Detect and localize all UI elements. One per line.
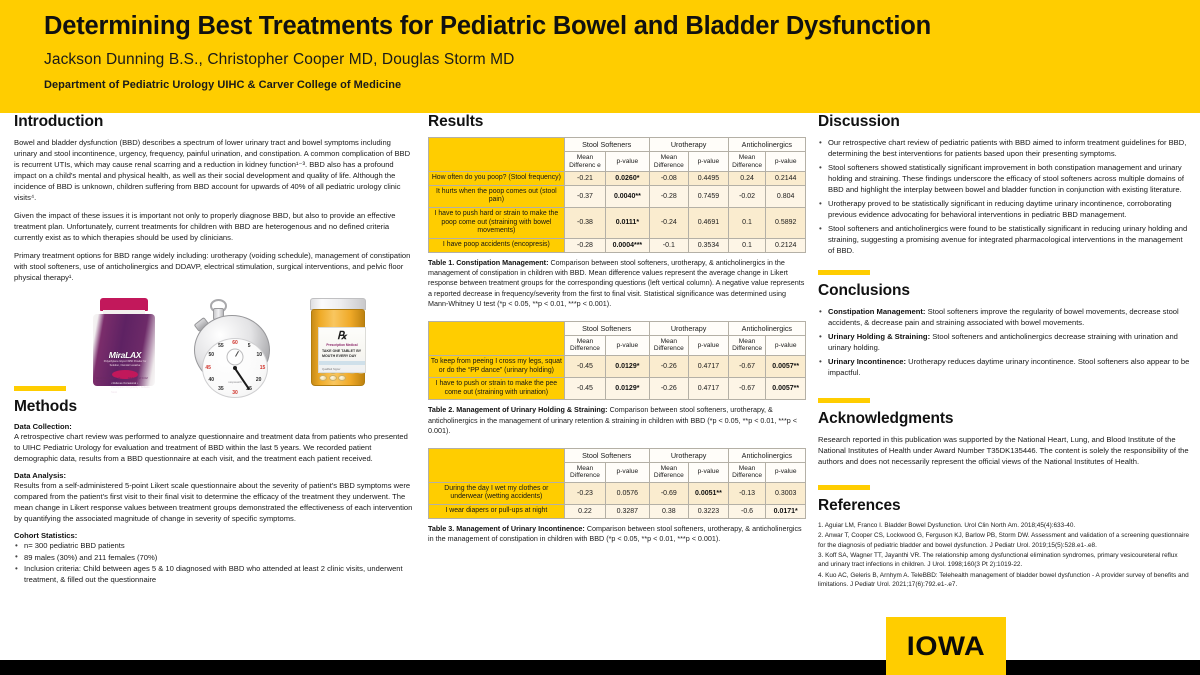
table-group-header: Anticholinergics xyxy=(728,321,805,335)
stopwatch-face: 60 5 10 15 20 25 30 35 40 45 50 55 xyxy=(202,338,268,398)
table-sub-header: p-value xyxy=(606,152,649,172)
stopwatch-tick-50: 50 xyxy=(209,352,215,358)
accent-bar-methods xyxy=(14,386,66,391)
heading-introduction: Introduction xyxy=(14,113,414,131)
table-value-cell: 0.0057** xyxy=(766,355,806,377)
results-tables-host: Stool SoftenersUrotherapyAnticholinergic… xyxy=(428,137,806,545)
table-value-cell: 0.2144 xyxy=(766,172,806,186)
table-value-cell: -0.37 xyxy=(564,185,605,207)
table-row: During the day I wet my clothes or under… xyxy=(429,482,806,504)
stopwatch-tick-5: 5 xyxy=(248,343,251,349)
references-list: 1. Aguiar LM, Franco I. Bladder Bowel Dy… xyxy=(818,521,1190,590)
prescription-signature: Qualified Signer xyxy=(322,368,340,371)
table-value-cell: -0.67 xyxy=(728,355,766,377)
table-caption: Table 2. Management of Urinary Holding &… xyxy=(428,405,806,436)
accent-bar-conclusions xyxy=(818,270,870,275)
table-value-cell: -0.26 xyxy=(649,378,689,400)
table-sub-header: Mean Difference xyxy=(728,462,766,482)
table-sub-header: p-value xyxy=(766,335,806,355)
table-group-header: Stool Softeners xyxy=(564,321,649,335)
accent-bar-acknowledgments xyxy=(818,398,870,403)
list-item: Stool softeners showed statistically sig… xyxy=(818,162,1190,195)
table-value-cell: -0.21 xyxy=(564,172,605,186)
list-item: Our retrospective chart review of pediat… xyxy=(818,137,1190,159)
table-value-cell: 0.38 xyxy=(649,505,689,519)
table-caption: Table 1. Constipation Management: Compar… xyxy=(428,258,806,310)
miralax-bottle-image: MiraLAX Polyethylene Glycol 3350 Powder … xyxy=(92,298,156,386)
table-value-cell: -0.23 xyxy=(564,482,605,504)
table-value-cell: 0.4717 xyxy=(689,355,729,377)
table-value-cell: -0.08 xyxy=(649,172,689,186)
label-data-analysis: Data Analysis: xyxy=(14,471,414,480)
table-row: To keep from peeing I cross my legs, squ… xyxy=(429,355,806,377)
table-row: I have to push or strain to make the pee… xyxy=(429,378,806,400)
heading-conclusions: Conclusions xyxy=(818,282,1190,300)
stopwatch-tick-10: 10 xyxy=(257,352,263,358)
stopwatch-case: 60 5 10 15 20 25 30 35 40 45 50 55 xyxy=(194,315,270,385)
table-group-header: Stool Softeners xyxy=(564,448,649,462)
heading-references: References xyxy=(818,497,1190,515)
table-value-cell: -0.28 xyxy=(564,238,605,252)
table-sub-header: Mean Differenc e xyxy=(564,152,605,172)
table-row: How often do you poop? (Stool frequency)… xyxy=(429,172,806,186)
table-value-cell: -0.67 xyxy=(728,378,766,400)
table-value-cell: 0.0171* xyxy=(766,505,806,519)
intro-paragraph-2: Given the impact of these issues it is i… xyxy=(14,210,414,243)
table-question-cell: I wear diapers or pull-ups at night xyxy=(429,505,565,519)
reference-item: 3. Koff SA, Wagner TT, Jayanthi VR. The … xyxy=(818,551,1190,570)
stopwatch-tick-45: 45 xyxy=(205,365,211,371)
pill-bottle-image: ℞ Prescription Medical TAKE ONE TABLET B… xyxy=(308,298,368,386)
conclusion-lead: Urinary Holding & Straining: xyxy=(828,332,930,341)
table-row: It hurts when the poop comes out (stool … xyxy=(429,185,806,207)
table-value-cell: 0.3223 xyxy=(689,505,729,519)
table-sub-header: Mean Difference xyxy=(564,462,605,482)
stopwatch-tick-15: 15 xyxy=(260,365,266,371)
discussion-list: Our retrospective chart review of pediat… xyxy=(818,137,1190,256)
list-item: Urinary Incontinence: Urotherapy reduces… xyxy=(818,356,1190,378)
table-question-cell: I have to push or strain to make the pee… xyxy=(429,378,565,400)
table-caption: Table 3. Management of Urinary Incontine… xyxy=(428,524,806,545)
heading-results: Results xyxy=(428,113,806,131)
table-question-cell: I have poop accidents (encopresis) xyxy=(429,238,565,252)
column-results: Results Stool SoftenersUrotherapyAnticho… xyxy=(428,113,806,556)
stopwatch-hand xyxy=(234,368,250,390)
table-value-cell: -0.45 xyxy=(564,355,605,377)
reference-item: 4. Kuo AC, Geleris B, Arnhym A. TeleBBD:… xyxy=(818,571,1190,590)
table-sub-header: p-value xyxy=(689,462,729,482)
conclusion-lead: Constipation Management: xyxy=(828,307,925,316)
column-left: Introduction Bowel and bladder dysfuncti… xyxy=(14,113,414,591)
list-item: n= 300 pediatric BBD patients xyxy=(14,540,414,551)
poster-header: Determining Best Treatments for Pediatri… xyxy=(0,0,1200,113)
pill-bottle-body: ℞ Prescription Medical TAKE ONE TABLET B… xyxy=(311,309,365,386)
poster-body: Introduction Bowel and bladder dysfuncti… xyxy=(0,113,1200,660)
miralax-brand-label: MiraLAX xyxy=(100,350,150,360)
stopwatch-tick-55: 55 xyxy=(218,343,224,349)
table-caption-lead: Table 2. Management of Urinary Holding &… xyxy=(428,405,608,414)
table-value-cell: 0.0129* xyxy=(606,355,649,377)
table-value-cell: -0.13 xyxy=(728,482,766,504)
intro-paragraph-3: Primary treatment options for BBD range … xyxy=(14,250,414,283)
pill xyxy=(319,375,327,381)
table-question-cell: During the day I wet my clothes or under… xyxy=(429,482,565,504)
poster-canvas: Determining Best Treatments for Pediatri… xyxy=(0,0,1200,675)
department-line: Department of Pediatric Urology UIHC & C… xyxy=(44,79,1200,91)
prescription-label: ℞ Prescription Medical TAKE ONE TABLET B… xyxy=(318,327,366,373)
label-cohort-statistics: Cohort Statistics: xyxy=(14,531,414,540)
heading-acknowledgments: Acknowledgments xyxy=(818,410,1190,428)
table-sub-header: p-value xyxy=(606,462,649,482)
pill xyxy=(329,375,337,381)
list-item: Inclusion criteria: Child between ages 5… xyxy=(14,563,414,585)
table-value-cell: 0.4495 xyxy=(689,172,729,186)
stopwatch-brand-text: stopwatch xyxy=(203,380,267,384)
bottle-body: MiraLAX Polyethylene Glycol 3350 Powder … xyxy=(93,314,155,386)
table-value-cell: 0.0004*** xyxy=(606,238,649,252)
author-list: Jackson Dunning B.S., Christopher Cooper… xyxy=(44,51,1200,69)
text-data-collection: A retrospective chart review was perform… xyxy=(14,431,414,464)
table-value-cell: 0.0576 xyxy=(606,482,649,504)
table-value-cell: 0.4717 xyxy=(689,378,729,400)
table-value-cell: 0.4691 xyxy=(689,208,729,239)
table-corner-cell xyxy=(429,138,565,172)
table-sub-header: Mean Difference xyxy=(564,335,605,355)
list-item: Urinary Holding & Straining: Stool softe… xyxy=(818,331,1190,353)
stopwatch-tick-60: 60 xyxy=(232,340,238,346)
table-value-cell: 0.3534 xyxy=(689,238,729,252)
table-sub-header: p-value xyxy=(689,152,729,172)
table-value-cell: 0.3003 xyxy=(766,482,806,504)
table-corner-cell xyxy=(429,321,565,355)
table-value-cell: -0.28 xyxy=(649,185,689,207)
label-data-collection: Data Collection: xyxy=(14,422,414,431)
rx-icon: ℞ xyxy=(319,329,365,342)
table-group-header: Urotherapy xyxy=(649,138,728,152)
table-sub-header: p-value xyxy=(606,335,649,355)
table-sub-header: p-value xyxy=(766,152,806,172)
table-value-cell: 0.5892 xyxy=(766,208,806,239)
table-value-cell: 0.3287 xyxy=(606,505,649,519)
table-group-header: Urotherapy xyxy=(649,321,728,335)
miralax-weight-text: NET WT 17.9 OZ (510g) xyxy=(128,377,154,383)
table-group-header: Stool Softeners xyxy=(564,138,649,152)
heading-discussion: Discussion xyxy=(818,113,1190,131)
footer-bar xyxy=(0,660,1200,675)
table-caption-lead: Table 3. Management of Urinary Incontine… xyxy=(428,524,585,533)
miralax-subtext: Polyethylene Glycol 3350 Powder for Solu… xyxy=(99,360,151,368)
conclusions-list: Constipation Management: Stool softeners… xyxy=(818,306,1190,378)
treatment-images: MiraLAX Polyethylene Glycol 3350 Powder … xyxy=(14,290,414,386)
miralax-dose-text: 30 DOSES DAILY 17 GRAMS xyxy=(96,377,128,383)
list-item: Urotherapy proved to be statistically si… xyxy=(818,198,1190,220)
table-value-cell: -0.45 xyxy=(564,378,605,400)
table-caption-lead: Table 1. Constipation Management: xyxy=(428,258,548,267)
table-group-header: Anticholinergics xyxy=(728,448,805,462)
table-sub-header: Mean Difference xyxy=(649,335,689,355)
table-value-cell: 0.0129* xyxy=(606,378,649,400)
stopwatch-image: 60 5 10 15 20 25 30 35 40 45 50 55 xyxy=(192,298,272,386)
table-value-cell: -0.26 xyxy=(649,355,689,377)
table-value-cell: 0.0111* xyxy=(606,208,649,239)
results-table: Stool SoftenersUrotherapyAnticholinergic… xyxy=(428,137,806,253)
column-right: Discussion Our retrospective chart revie… xyxy=(818,113,1190,590)
label-stripe xyxy=(319,361,365,365)
reference-item: 2. Anwar T, Cooper CS, Lockwood G, Fergu… xyxy=(818,531,1190,550)
miralax-claims: • Relieves Occasional • Constipation Irr… xyxy=(111,382,151,395)
table-value-cell: -0.6 xyxy=(728,505,766,519)
table-corner-cell xyxy=(429,448,565,482)
cohort-statistics-list: n= 300 pediatric BBD patients 89 males (… xyxy=(14,540,414,585)
list-item: Stool softeners and anticholinergics wer… xyxy=(818,223,1190,256)
table-question-cell: To keep from peeing I cross my legs, squ… xyxy=(429,355,565,377)
stopwatch-subdial xyxy=(227,348,244,365)
table-value-cell: -0.1 xyxy=(649,238,689,252)
table-group-header: Anticholinergics xyxy=(728,138,805,152)
iowa-logo-text: IOWA xyxy=(907,631,985,662)
table-value-cell: -0.24 xyxy=(649,208,689,239)
table-group-header: Urotherapy xyxy=(649,448,728,462)
table-value-cell: 0.804 xyxy=(766,185,806,207)
table-value-cell: 0.1 xyxy=(728,238,766,252)
conclusion-lead: Urinary Incontinence: xyxy=(828,357,906,366)
table-value-cell: 0.0260* xyxy=(606,172,649,186)
prescription-header-text: Prescription Medical xyxy=(319,343,365,347)
table-sub-header: Mean Difference xyxy=(728,335,766,355)
table-value-cell: -0.02 xyxy=(728,185,766,207)
stopwatch-tick-30: 30 xyxy=(232,390,238,396)
table-value-cell: -0.69 xyxy=(649,482,689,504)
stopwatch-tick-35: 35 xyxy=(218,386,224,392)
page-title: Determining Best Treatments for Pediatri… xyxy=(44,12,1200,40)
iowa-logo: IOWA xyxy=(886,617,1006,675)
prescription-instructions: TAKE ONE TABLET BY MOUTH EVERY DAY xyxy=(322,349,362,359)
table-value-cell: 0.24 xyxy=(728,172,766,186)
table-value-cell: 0.7459 xyxy=(689,185,729,207)
table-row: I have poop accidents (encopresis)-0.280… xyxy=(429,238,806,252)
list-item: 89 males (30%) and 211 females (70%) xyxy=(14,552,414,563)
table-value-cell: 0.0057** xyxy=(766,378,806,400)
text-acknowledgments: Research reported in this publication wa… xyxy=(818,434,1190,467)
table-value-cell: -0.38 xyxy=(564,208,605,239)
heading-methods: Methods xyxy=(14,398,414,416)
table-value-cell: 0.0040** xyxy=(606,185,649,207)
intro-paragraph-1: Bowel and bladder dysfunction (BBD) desc… xyxy=(14,137,414,203)
table-sub-header: p-value xyxy=(766,462,806,482)
accent-bar-references xyxy=(818,485,870,490)
text-data-analysis: Results from a self-administered 5-point… xyxy=(14,480,414,524)
miralax-footer: 30 DOSES DAILY 17 GRAMS NET WT 17.9 OZ (… xyxy=(96,377,154,383)
table-sub-header: Mean Difference xyxy=(728,152,766,172)
table-question-cell: I have to push hard or strain to make th… xyxy=(429,208,565,239)
stopwatch-center-pin xyxy=(233,366,237,370)
table-row: I have to push hard or strain to make th… xyxy=(429,208,806,239)
table-sub-header: Mean Difference xyxy=(649,152,689,172)
reference-item: 1. Aguiar LM, Franco I. Bladder Bowel Dy… xyxy=(818,521,1190,531)
table-value-cell: 0.2124 xyxy=(766,238,806,252)
table-value-cell: 0.22 xyxy=(564,505,605,519)
table-value-cell: 0.1 xyxy=(728,208,766,239)
pill xyxy=(338,375,346,381)
list-item: Constipation Management: Stool softeners… xyxy=(818,306,1190,328)
table-value-cell: 0.0051** xyxy=(689,482,729,504)
table-sub-header: p-value xyxy=(689,335,729,355)
results-table: Stool SoftenersUrotherapyAnticholinergic… xyxy=(428,448,806,519)
table-sub-header: Mean Difference xyxy=(649,462,689,482)
results-table: Stool SoftenersUrotherapyAnticholinergic… xyxy=(428,321,806,401)
table-row: I wear diapers or pull-ups at night0.220… xyxy=(429,505,806,519)
table-question-cell: How often do you poop? (Stool frequency) xyxy=(429,172,565,186)
table-question-cell: It hurts when the poop comes out (stool … xyxy=(429,185,565,207)
